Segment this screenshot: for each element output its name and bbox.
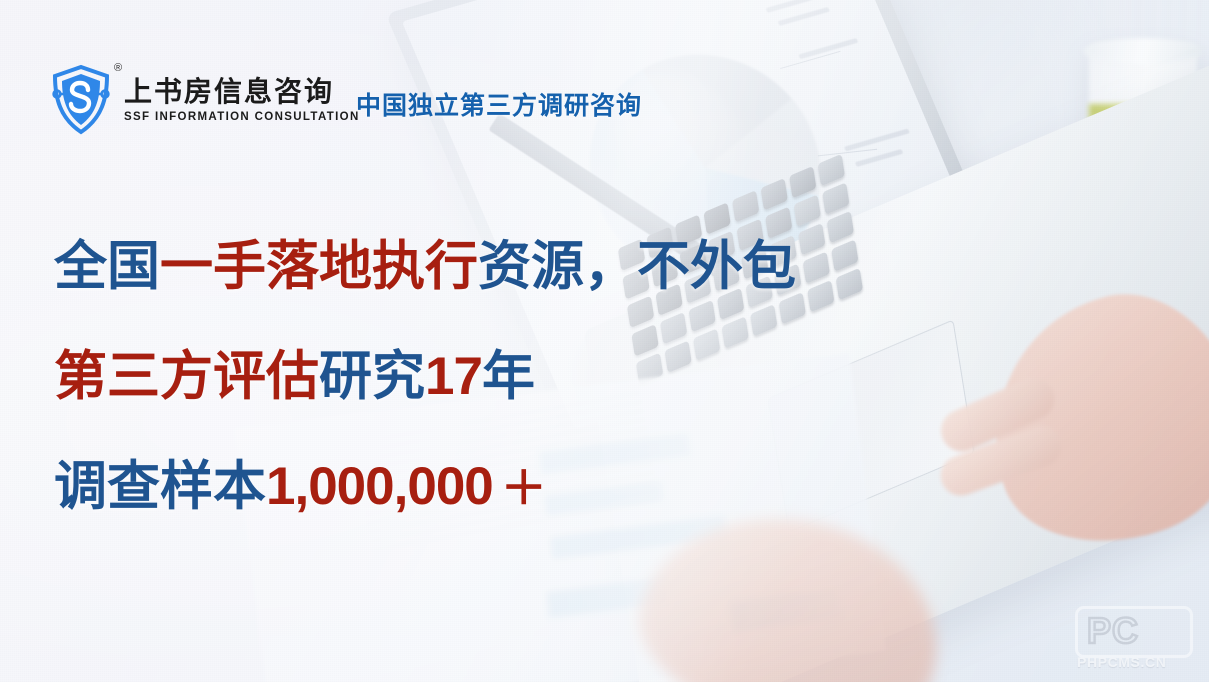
headline-3-segment-2: 1,000,000	[266, 457, 493, 516]
headline-2-segment-4: 年	[482, 347, 535, 406]
headline-2-segment-2: 研究	[319, 347, 425, 406]
watermark-text: PHPCMS.CN	[1077, 654, 1166, 670]
registered-mark: ®	[114, 62, 122, 74]
watermark: PC PHPCMS.CN	[1061, 602, 1201, 676]
logo-text-block: 上书房信息咨询 SSF INFORMATION CONSULTATION	[124, 77, 360, 124]
headline-2: 第三方评估研究17年	[54, 350, 796, 403]
headline-block: 全国一手落地执行资源，不外包 第三方评估研究17年 调查样本1,000,000＋	[54, 240, 796, 513]
plus-icon: ＋	[493, 462, 547, 514]
headline-1-segment-2: 一手落地执行	[160, 237, 478, 296]
headline-1-segment-3: 资源，不外包	[478, 237, 796, 296]
brand-name-cn: 上书房信息咨询	[124, 77, 360, 107]
headline-2-segment-3: 17	[425, 347, 482, 406]
banner-stage: ® 上书房信息咨询 SSF INFORMATION CONSULTATION 中…	[0, 0, 1209, 682]
tagline: 中国独立第三方调研咨询	[356, 86, 642, 122]
watermark-mark: PC	[1087, 610, 1139, 652]
brand-logo[interactable]: ® 上书房信息咨询 SSF INFORMATION CONSULTATION	[50, 64, 360, 136]
banner-content: ® 上书房信息咨询 SSF INFORMATION CONSULTATION 中…	[0, 0, 1209, 682]
headline-3: 调查样本1,000,000＋	[54, 460, 796, 513]
headline-2-segment-1: 第三方评估	[54, 347, 319, 406]
headline-1: 全国一手落地执行资源，不外包	[54, 240, 796, 293]
shield-s-icon: ®	[50, 64, 112, 136]
brand-name-en: SSF INFORMATION CONSULTATION	[124, 111, 360, 123]
headline-1-segment-1: 全国	[54, 237, 160, 296]
headline-3-segment-1: 调查样本	[54, 457, 266, 516]
